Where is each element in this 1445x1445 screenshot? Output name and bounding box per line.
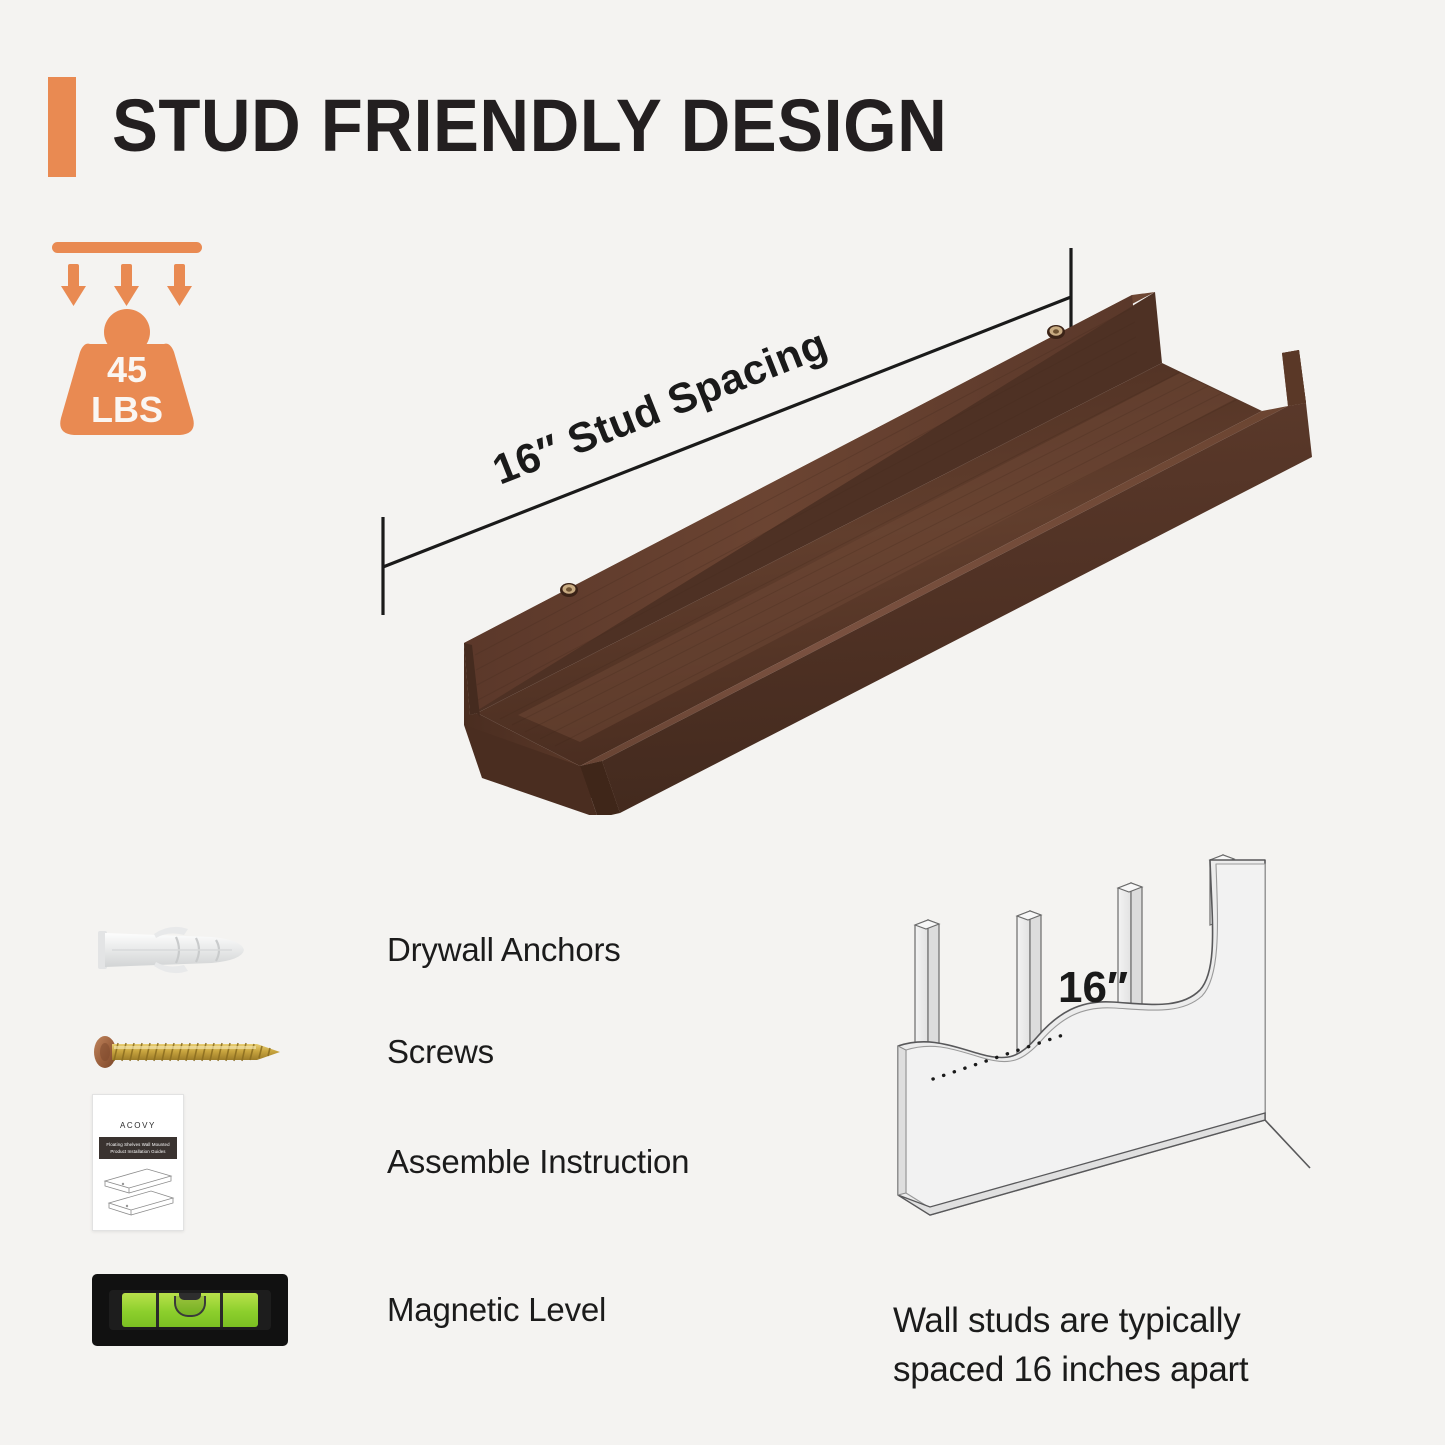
weight-value: 45 [107,349,147,390]
title-accent-bar [48,77,76,177]
screw-icon [92,1022,297,1082]
booklet-banner-line2: Product Installation Guides [99,1148,177,1155]
accessory-label: Screws [387,1033,494,1071]
wall-stud-diagram: 16″ [880,850,1340,1270]
booklet-shelf-lineart [101,1167,175,1222]
weight-unit: LBS [91,389,163,430]
page-title: STUD FRIENDLY DESIGN [112,74,947,178]
caption-line-1: Wall studs are typically [893,1296,1343,1345]
accessories-list: Drywall Anchors [92,890,792,1390]
infographic-page: STUD FRIENDLY DESIGN 45 LBS [0,0,1445,1445]
screw-hole [560,583,578,597]
booklet-banner: Floating Shelves Wall Mounted Product In… [99,1137,177,1159]
stud-dimension-label: 16″ [1058,963,1128,1012]
stud-caption: Wall studs are typically spaced 16 inche… [893,1296,1343,1394]
instruction-booklet-icon: ACOVY Floating Shelves Wall Mounted Prod… [92,1094,297,1231]
booklet-brand: ACOVY [93,1121,183,1130]
accessory-label: Assemble Instruction [387,1143,689,1181]
weight-load-arrows-icon: 45 LBS [44,236,210,448]
accessory-label: Drywall Anchors [387,931,621,969]
list-item: Magnetic Level [92,1250,792,1370]
floor-line [1265,1120,1310,1168]
drywall-anchor-icon [92,915,297,985]
wall-stud [1017,911,1041,1057]
drywall-left-edge [898,1046,906,1195]
weight-capacity-badge: 45 LBS [44,236,210,448]
product-shelf-illustration: 16″ Stud Spacing [250,245,1350,815]
magnetic-level-icon [92,1274,297,1346]
wall-stud [915,920,939,1055]
screw-hole [1047,325,1065,339]
booklet-banner-line1: Floating Shelves Wall Mounted [99,1141,177,1148]
accessory-label: Magnetic Level [387,1291,606,1329]
caption-line-2: spaced 16 inches apart [893,1345,1343,1394]
list-item: ACOVY Floating Shelves Wall Mounted Prod… [92,1102,792,1222]
dimension-label: 16″ Stud Spacing [486,320,833,494]
